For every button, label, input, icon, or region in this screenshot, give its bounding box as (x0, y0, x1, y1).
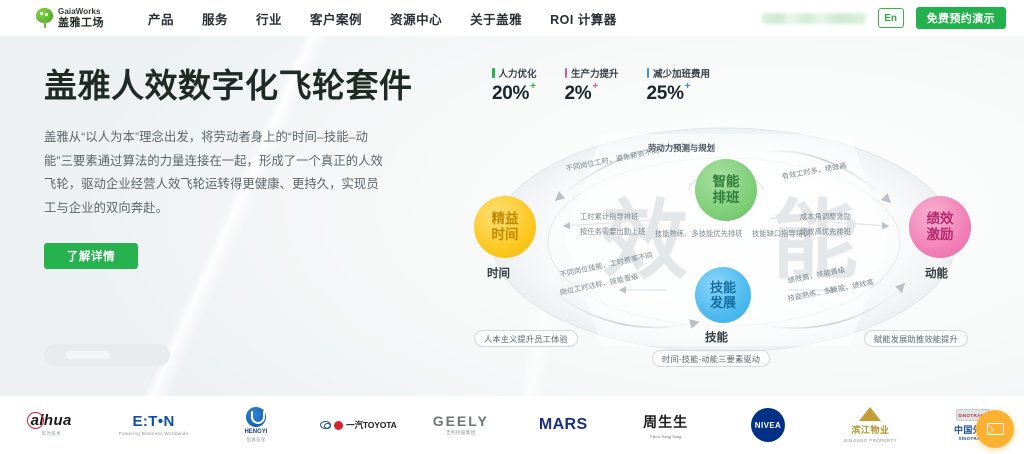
nav-item-services[interactable]: 服务 (202, 9, 228, 28)
language-toggle-button[interactable]: En (878, 8, 904, 28)
logo-dahua: alhua 华为技术 (0, 403, 102, 447)
pill-three-factors: 时间-技能-动能三要素驱动 (652, 350, 770, 367)
logo-binjiang-text: 滨江物业 (851, 423, 889, 436)
node-smart-scheduling[interactable]: 智能排班 (695, 159, 757, 221)
logo-geely-sub: 吉利控股集团 (446, 430, 475, 436)
stat-value: 25%+ (647, 83, 684, 105)
node-caption-momentum: 动能 (925, 265, 948, 281)
stat-label-text: 生产力提升 (571, 66, 619, 80)
logo-faw-toyota: 一汽TOYOTA (307, 403, 409, 447)
page-root: GaiaWorks 盖雅工场 产品 服务 行业 客户案例 资源中心 关于盖雅 R… (0, 0, 1024, 454)
client-logo-strip: alhua 华为技术 E:T•N Powering Business World… (0, 396, 1024, 454)
pill-enablement: 赋能发展助推效能提升 (864, 330, 968, 347)
hero-text-block: 盖雅人效数字化飞轮套件 盖雅从“以人为本”理念出发，将劳动者身上的“时间–技能–… (44, 64, 424, 269)
nav-item-about[interactable]: 关于盖雅 (470, 9, 522, 28)
loading-placeholder-pill (44, 344, 170, 366)
logo-binjiang-property: 滨江物业 BINJIANG PROPERTY (819, 403, 921, 447)
toyota-emblem-icon (320, 421, 331, 429)
nav-item-roi[interactable]: ROI 计算器 (550, 9, 617, 28)
learn-more-button[interactable]: 了解详情 (44, 243, 138, 269)
node-lean-time[interactable]: 精益时间 (474, 196, 536, 258)
ghost-char-xiao: 效 (602, 198, 690, 284)
connector-label-2: 按任务需要出勤上班 (580, 227, 646, 238)
book-demo-button[interactable]: 免费预约演示 (916, 7, 1006, 29)
envelope-icon (987, 423, 1004, 435)
logo-faw-toyota-text: 一汽TOYOTA (346, 419, 397, 431)
brand-logo[interactable]: GaiaWorks 盖雅工场 (36, 8, 104, 29)
logo-eaton: E:T•N Powering Business Worldwide (102, 403, 204, 447)
stat-item-overtime-reduction: 减少加班费用 25%+ (647, 66, 711, 105)
stat-label-text: 减少加班费用 (653, 66, 710, 80)
stat-label-text: 人力优化 (499, 66, 537, 80)
hengyi-mark-icon (246, 407, 266, 427)
stat-accent-bar (647, 68, 650, 78)
navbar-right-group: En 免费预约演示 (762, 7, 1006, 29)
nav-item-products[interactable]: 产品 (148, 9, 174, 28)
nav-links: 产品 服务 行业 客户案例 资源中心 关于盖雅 ROI 计算器 (148, 9, 617, 28)
logo-hengyi-sub: 恒逸石化 (246, 437, 266, 443)
hero-title: 盖雅人效数字化飞轮套件 (44, 64, 424, 108)
stat-value: 2%+ (565, 83, 592, 105)
stats-row: 人力优化 20%+ 生产力提升 2%+ 减少加班费用 (492, 66, 710, 105)
logo-eaton-sub: Powering Business Worldwide (119, 431, 189, 436)
flywheel-diagram: 效 能 劳动力预测与规划 精益时间 智能排班 技能发展 绩效激励 时间 技能 动… (452, 90, 1012, 380)
hero-description: 盖雅从“以人为本”理念出发，将劳动者身上的“时间–技能–动能”三要素通过算法的力… (44, 126, 389, 222)
gaiaworks-tree-icon (36, 8, 53, 28)
connector-label-4: 成本角调整激励 (800, 212, 851, 223)
logo-mars-text: MARS (539, 417, 588, 433)
brand-name-en: GaiaWorks (58, 8, 104, 16)
logo-geely-text: GEELY (433, 414, 489, 428)
redacted-contact-block (762, 13, 866, 24)
logo-chow-sang-sang: 周生生 Chow Sang Sang (614, 403, 716, 447)
logo-nivea-text: NIVEA (751, 408, 785, 442)
logo-mars: MARS (512, 403, 614, 447)
pill-humanism: 人本主义提升员工体验 (474, 330, 578, 347)
faw-emblem-icon (334, 421, 343, 430)
logo-nivea: NIVEA (717, 403, 819, 447)
logo-hengyi-text: HENGYI (244, 429, 267, 435)
logo-dahua-sub: 华为技术 (41, 431, 61, 437)
stat-accent-bar (492, 68, 495, 78)
top-navbar: GaiaWorks 盖雅工场 产品 服务 行业 客户案例 资源中心 关于盖雅 R… (0, 0, 1024, 36)
connector-label-6: 技能熟练、多技能优先排班 (655, 229, 742, 240)
logo-chow-sang-sang-sub: Chow Sang Sang (650, 434, 682, 439)
contact-floating-button[interactable] (976, 410, 1014, 448)
logo-chow-sang-sang-text: 周生生 (643, 412, 688, 432)
connector-label-7: 技能缺口指导培训 (752, 229, 810, 240)
nav-item-cases[interactable]: 客户案例 (310, 9, 362, 28)
node-skill-development[interactable]: 技能发展 (695, 267, 751, 323)
logo-binjiang-sub: BINJIANG PROPERTY (844, 438, 897, 443)
logo-geely: GEELY 吉利控股集团 (410, 403, 512, 447)
nav-item-industry[interactable]: 行业 (256, 9, 282, 28)
logo-hengyi: HENGYI 恒逸石化 (205, 403, 307, 447)
stat-accent-bar (565, 68, 568, 78)
connector-label-1: 工时累计指导排班 (580, 212, 638, 223)
node-caption-skill: 技能 (705, 329, 728, 345)
logo-dahua-text: alhua (31, 413, 72, 428)
node-caption-time: 时间 (487, 265, 510, 281)
node-performance-incentive[interactable]: 绩效激励 (909, 196, 971, 258)
hero-section: 盖雅人效数字化飞轮套件 盖雅从“以人为本”理念出发，将劳动者身上的“时间–技能–… (0, 36, 1024, 396)
nav-item-resources[interactable]: 资源中心 (390, 9, 442, 28)
logo-eaton-text: E:T•N (132, 414, 174, 429)
stat-item-workforce-optimization: 人力优化 20%+ (492, 66, 537, 105)
stat-value: 20%+ (492, 83, 529, 105)
binjiang-mark-icon (859, 407, 881, 421)
stat-item-productivity: 生产力提升 2%+ (565, 66, 619, 105)
brand-name-cn: 盖雅工场 (58, 18, 104, 29)
